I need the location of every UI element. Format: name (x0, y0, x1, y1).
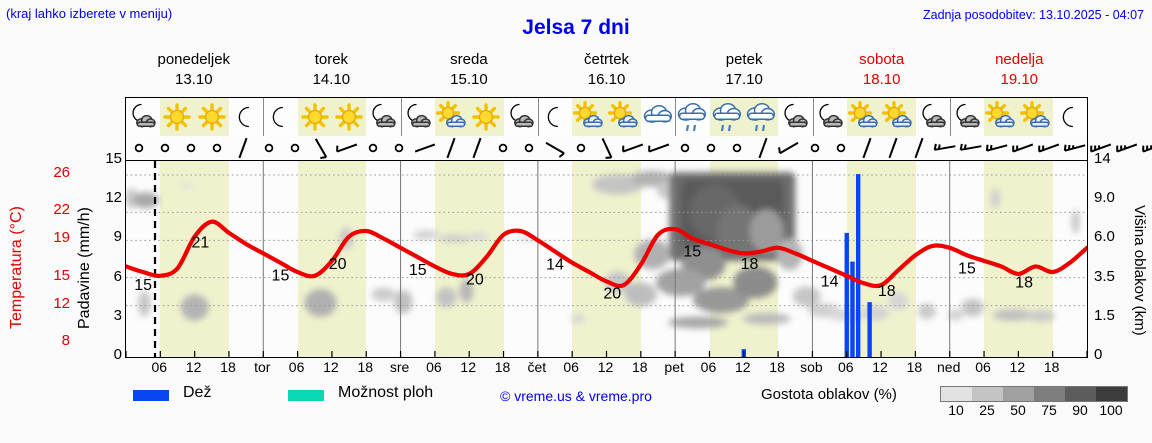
cloud-blob (1072, 210, 1080, 234)
precipitation-tick-label: 9 (96, 228, 122, 245)
weather-icon-moon (263, 98, 297, 136)
rain-bar (867, 302, 871, 357)
wind-barb (230, 136, 256, 160)
cloud-density-legend-title: Gostota oblakov (%) (761, 386, 897, 403)
x-axis-tick-label: 18 (495, 359, 511, 375)
day-name: četrtek (538, 50, 676, 70)
wind-barb (724, 136, 750, 160)
cloud-blob (413, 230, 439, 240)
cloud-blob (436, 287, 456, 307)
wind-barb (256, 136, 282, 160)
day-separator (813, 98, 814, 136)
weather-icon-moon-cloud (813, 98, 847, 136)
weather-icon-sun-cloud (847, 98, 881, 136)
wind-barb (386, 136, 412, 160)
day-name: sobota (813, 50, 951, 70)
wind-barb (152, 136, 178, 160)
wind-barb (984, 136, 1010, 160)
cloud-density-layer (125, 171, 1080, 329)
x-axis-tick-label: 12 (872, 359, 888, 375)
wind-barb (204, 136, 230, 160)
day-date: 18.10 (813, 70, 951, 90)
cloud-blob (304, 289, 336, 317)
temperature-tick-label: 15 (36, 267, 70, 284)
day-name: petek (675, 50, 813, 70)
x-axis-tick-label: 18 (632, 359, 648, 375)
x-axis-tick-label: 18 (357, 359, 373, 375)
cloud-density-ramp-step (941, 387, 972, 401)
x-axis-tick-label: 18 (1044, 359, 1060, 375)
day-date: 13.10 (125, 70, 263, 90)
rain-legend-label: Dež (183, 384, 211, 402)
wind-barb (568, 136, 594, 160)
x-axis-tick-label: 18 (220, 359, 236, 375)
wind-barb (178, 136, 204, 160)
cloud-density-color-ramp (940, 386, 1128, 402)
temperature-label: 15 (272, 268, 290, 285)
x-axis-tick-label: ned (937, 359, 960, 375)
temperature-label: 15 (958, 260, 976, 277)
weather-icon-sun (195, 98, 229, 136)
weather-icon-sun (469, 98, 503, 136)
x-axis-tick-label: 06 (975, 359, 991, 375)
wind-barb-row (126, 136, 1087, 160)
temperature-label: 15 (409, 262, 427, 279)
showers-legend-swatch (288, 390, 324, 401)
cloud-height-tick-label: 1.5 (1094, 307, 1134, 324)
cloud-density-ramp-label: 90 (1072, 402, 1088, 418)
x-axis-tick-label: 06 (838, 359, 854, 375)
cloud-density-ramp-label: 100 (1099, 402, 1122, 418)
day-separator (538, 98, 539, 136)
cloud-blob (178, 184, 194, 188)
day-date: 14.10 (263, 70, 401, 90)
wind-barb (412, 136, 438, 160)
rain-legend-swatch (133, 390, 169, 401)
temperature-label: 18 (741, 256, 759, 273)
weather-icon-sun-cloud (984, 98, 1018, 136)
wind-barb (880, 136, 906, 160)
cloud-height-tick-label: 0 (1094, 346, 1134, 363)
day-separator (401, 98, 402, 136)
wind-barb (906, 136, 932, 160)
temperature-label: 14 (546, 257, 564, 274)
x-axis-tick-label: sre (390, 359, 409, 375)
wind-barb (698, 136, 724, 160)
wind-barb (360, 136, 386, 160)
cloud-density-ramp-step (1065, 387, 1096, 401)
temperature-axis-title: Temperatura (°C) (8, 168, 34, 368)
cloud-blob (656, 268, 706, 296)
x-axis-tick-label: 06 (152, 359, 168, 375)
wind-barb (620, 136, 646, 160)
x-axis-tick-label: 12 (323, 359, 339, 375)
cloud-blob (371, 287, 395, 301)
wind-barb (672, 136, 698, 160)
temperature-tick-label: 8 (36, 332, 70, 349)
precipitation-tick-label: 6 (96, 268, 122, 285)
day-separator (263, 98, 264, 136)
weather-icon-moon-cloud (504, 98, 538, 136)
x-axis-tick-label: 12 (1010, 359, 1026, 375)
weather-icon-cloud-rain (675, 98, 709, 136)
day-column-0: ponedeljek 13.10 (125, 50, 263, 95)
cloud-blob (993, 309, 1033, 321)
cloud-blob (468, 233, 488, 241)
x-axis-tick-label: sob (800, 359, 823, 375)
weather-icon-sun-cloud (881, 98, 915, 136)
wind-barb (464, 136, 490, 160)
weather-icon-sun (160, 98, 194, 136)
cloud-density-ramp-label: 25 (979, 402, 995, 418)
cloud-density-ramp-step (1003, 387, 1034, 401)
day-separator (675, 98, 676, 136)
day-name: nedelja (950, 50, 1088, 70)
weather-icon-sun (332, 98, 366, 136)
wind-barb (1036, 136, 1062, 160)
wind-barb (126, 136, 152, 160)
plot-canvas: 1521152015201420151814181518 (126, 161, 1087, 357)
weather-icon-sun-cloud (1019, 98, 1053, 136)
wind-barb (776, 136, 802, 160)
cloud-density-ramp-step (1034, 387, 1065, 401)
copyright-link[interactable]: © vreme.us & vreme.pro (500, 388, 652, 404)
cloud-density-ramp-label: 50 (1010, 402, 1026, 418)
weather-icon-moon-cloud (366, 98, 400, 136)
precipitation-tick-label: 12 (96, 189, 122, 206)
weather-icon-moon (1053, 98, 1087, 136)
wind-barb (282, 136, 308, 160)
temperature-tick-label: 12 (36, 295, 70, 312)
cloud-height-tick-label: 3.5 (1094, 268, 1134, 285)
cloud-height-tick-label: 6.0 (1094, 228, 1134, 245)
precipitation-tick-label: 3 (96, 307, 122, 324)
weather-icon-cloud-rain (710, 98, 744, 136)
x-axis-tick-label: 12 (735, 359, 751, 375)
day-column-5: sobota 18.10 (813, 50, 951, 95)
x-axis-tick-label: 12 (598, 359, 614, 375)
temperature-label: 18 (878, 283, 896, 300)
cloud-height-tick-label: 14 (1094, 150, 1134, 167)
wind-barb (594, 136, 620, 160)
x-axis-tick-label: 18 (907, 359, 923, 375)
temperature-label: 15 (683, 243, 701, 260)
weather-icon-moon-cloud (778, 98, 812, 136)
wind-barb (802, 136, 828, 160)
day-date: 16.10 (538, 70, 676, 90)
day-separator (950, 98, 951, 136)
temperature-tick-label: 26 (36, 164, 70, 181)
x-axis-tick-label: 12 (460, 359, 476, 375)
weather-icon-cloud-rain (744, 98, 778, 136)
day-date: 17.10 (675, 70, 813, 90)
temperature-label: 18 (1015, 274, 1033, 291)
wind-barb (932, 136, 958, 160)
cloud-blob (394, 290, 412, 314)
day-column-6: nedelja 19.10 (950, 50, 1088, 95)
temperature-label: 20 (329, 256, 347, 273)
weather-icon-sun (298, 98, 332, 136)
cloud-blob (439, 234, 471, 242)
cloud-blob (990, 188, 1000, 208)
wind-barb (334, 136, 360, 160)
day-header-row: ponedeljek 13.10 torek 14.10 sreda 15.10… (125, 50, 1088, 95)
x-axis-tick-label: 06 (289, 359, 305, 375)
cloud-density-ramp-label: 10 (948, 402, 964, 418)
wind-barb (646, 136, 672, 160)
weather-icon-moon-cloud (401, 98, 435, 136)
temperature-label: 20 (603, 286, 621, 303)
cloud-density-ramp-step (972, 387, 1003, 401)
cloud-blob (743, 313, 791, 325)
weather-icon-moon (229, 98, 263, 136)
cloud-blob (138, 291, 150, 317)
temperature-label: 20 (466, 271, 484, 288)
weather-icon-sun-cloud (435, 98, 469, 136)
rain-bar (856, 174, 860, 357)
x-axis-tick-label: 06 (563, 359, 579, 375)
temperature-label: 14 (821, 273, 839, 290)
precipitation-tick-label: 15 (96, 150, 122, 167)
chart-legend: Dež Možnost ploh © vreme.us & vreme.pro … (125, 386, 1145, 426)
weather-icon-sun-cloud (572, 98, 606, 136)
x-axis-tick-label: 06 (426, 359, 442, 375)
wind-barb (308, 136, 334, 160)
day-column-2: sreda 15.10 (400, 50, 538, 95)
wind-barb (490, 136, 516, 160)
x-axis-tick-label: tor (254, 359, 270, 375)
weather-symbol-panel (125, 97, 1088, 160)
cloud-blob (861, 306, 889, 320)
cloud-blob (962, 299, 984, 317)
rain-bar (845, 233, 849, 357)
x-axis-tick-label: 18 (769, 359, 785, 375)
day-date: 19.10 (950, 70, 1088, 90)
x-axis-tick-label: 06 (701, 359, 717, 375)
cloud-blob (181, 295, 209, 321)
wind-barb (438, 136, 464, 160)
temperature-tick-label: 22 (36, 201, 70, 218)
weather-icon-moon-cloud (950, 98, 984, 136)
forecast-plot: 1521152015201420151814181518 (125, 160, 1088, 358)
wind-barb (542, 136, 568, 160)
temperature-label: 15 (134, 277, 152, 294)
weather-icon-sun-cloud (607, 98, 641, 136)
cloud-blob (793, 286, 821, 306)
temperature-tick-label: 19 (36, 229, 70, 246)
x-axis-tick-label: 12 (186, 359, 202, 375)
wind-barb (1140, 136, 1152, 160)
cloud-density-ramp-label: 75 (1041, 402, 1057, 418)
wind-barb (750, 136, 776, 160)
cloud-blob (668, 316, 728, 328)
wind-barb (1062, 136, 1088, 160)
cloud-density-ramp-labels: 1025507590100 (930, 402, 1152, 420)
wind-barb (516, 136, 542, 160)
weather-icon-row (126, 98, 1087, 136)
day-column-3: četrtek 16.10 (538, 50, 676, 95)
wind-barb (828, 136, 854, 160)
x-axis-tick-label: čet (528, 359, 547, 375)
weather-icon-moon-cloud (916, 98, 950, 136)
wind-barb (1010, 136, 1036, 160)
cloud-density-ramp-step (1096, 387, 1127, 401)
x-axis-labels: 061218tor061218sre061218čet061218pet0612… (125, 359, 1088, 381)
last-updated-label: Zadnja posodobitev: 13.10.2025 - 04:07 (923, 8, 1144, 22)
x-axis-ticks (126, 351, 1087, 357)
temperature-label: 21 (191, 235, 209, 252)
weather-icon-cloud (641, 98, 675, 136)
day-name: ponedeljek (125, 50, 263, 70)
day-date: 15.10 (400, 70, 538, 90)
day-name: sreda (400, 50, 538, 70)
x-axis-tick-label: pet (664, 359, 683, 375)
cloud-blob (1027, 310, 1055, 322)
weather-icon-moon-cloud (126, 98, 160, 136)
day-name: torek (263, 50, 401, 70)
temperature-curve (126, 222, 1087, 286)
cloud-height-tick-label: 9.0 (1094, 189, 1134, 206)
weather-icon-moon (538, 98, 572, 136)
wind-barb (958, 136, 984, 160)
cloud-blob (571, 314, 585, 324)
day-column-4: petek 17.10 (675, 50, 813, 95)
day-column-1: torek 14.10 (263, 50, 401, 95)
showers-legend-label: Možnost ploh (338, 384, 433, 402)
precipitation-tick-label: 0 (96, 346, 122, 363)
wind-barb (854, 136, 880, 160)
